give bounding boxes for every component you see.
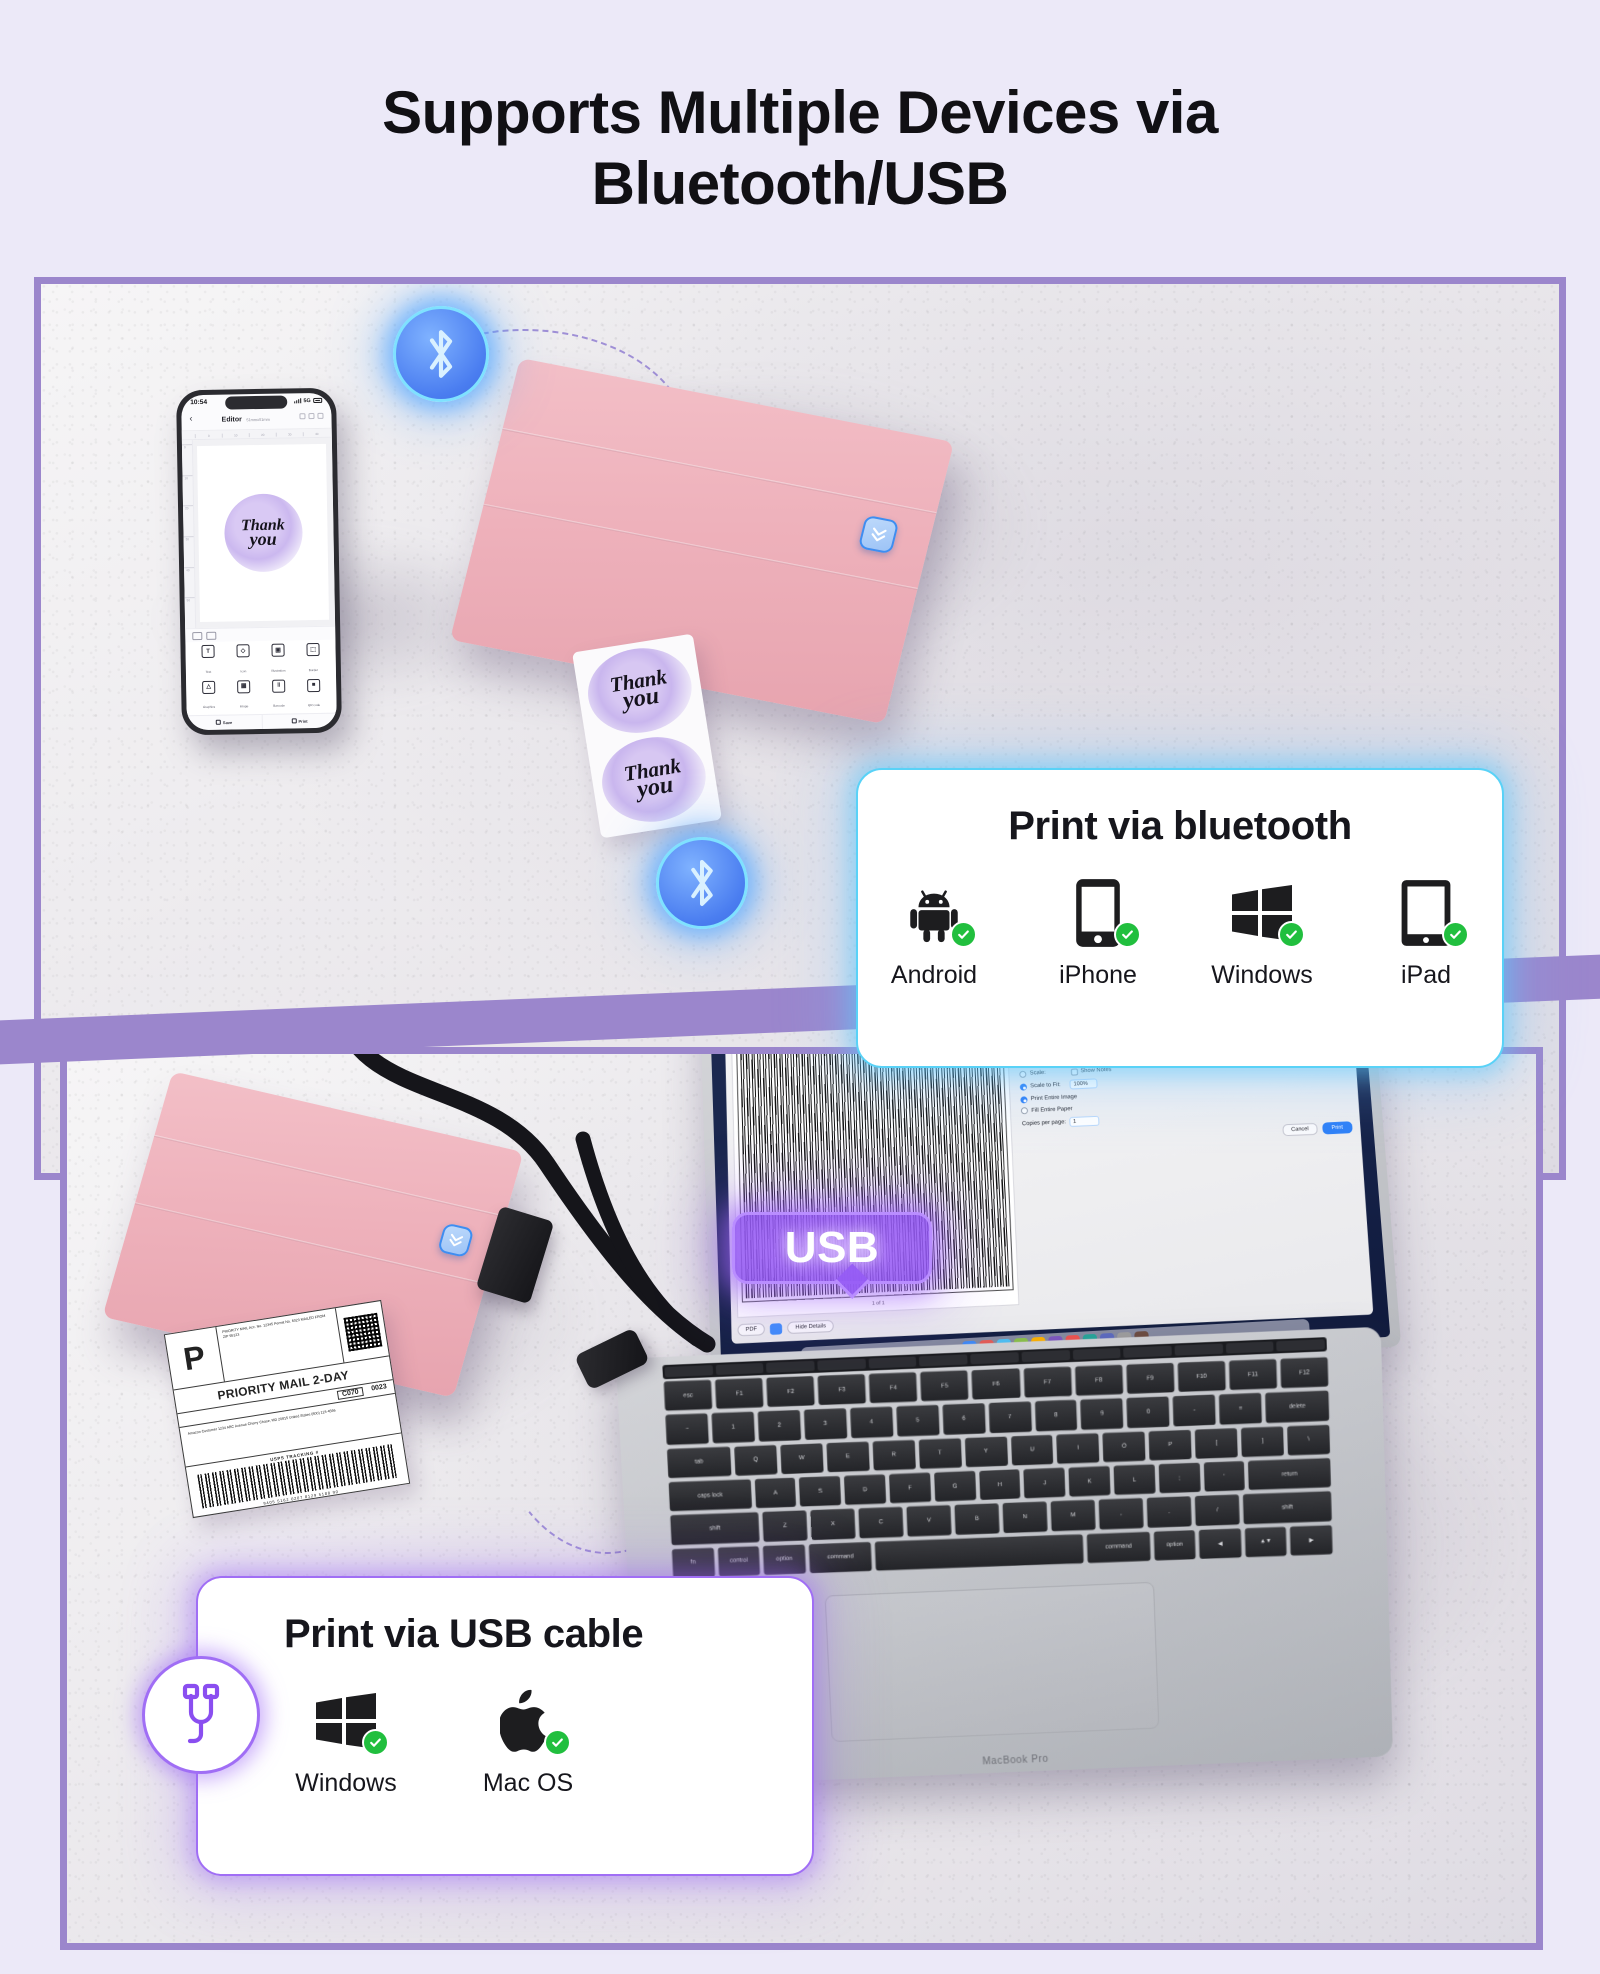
device-label: Mac OS bbox=[476, 1769, 580, 1798]
device-label: iPad bbox=[1374, 961, 1478, 990]
print-button[interactable]: Print bbox=[1322, 1121, 1352, 1134]
key[interactable]: F7 bbox=[1023, 1367, 1071, 1398]
tool-label: Icon bbox=[240, 669, 246, 673]
more-icon[interactable] bbox=[317, 413, 324, 420]
signal-icon bbox=[294, 398, 301, 403]
key[interactable]: ◀ bbox=[1199, 1528, 1241, 1559]
key[interactable]: F6 bbox=[972, 1368, 1020, 1399]
double-chevron-down-icon bbox=[866, 523, 890, 546]
scale-percent-input[interactable]: 100% bbox=[1070, 1078, 1098, 1089]
ruler-tick: 50 bbox=[185, 597, 196, 628]
laptop-trackpad[interactable] bbox=[825, 1582, 1160, 1742]
tool-label: Image bbox=[240, 704, 249, 708]
scale-label: Scale: bbox=[1030, 1070, 1046, 1077]
tool-icon[interactable]: ◇ Icon bbox=[226, 644, 260, 677]
phone-notch bbox=[225, 395, 287, 409]
key[interactable]: ] bbox=[1241, 1426, 1284, 1457]
checkbox-icon[interactable] bbox=[1071, 1068, 1078, 1075]
check-icon bbox=[1120, 927, 1135, 942]
check-icon bbox=[368, 1735, 383, 1750]
headline-line-2: Bluetooth/USB bbox=[0, 149, 1600, 220]
tool-label: Graphics bbox=[203, 705, 215, 709]
ruler-tick: 10 bbox=[182, 475, 193, 506]
tool-barcode[interactable]: ‖ Barcode bbox=[262, 679, 296, 712]
ipad-icon-wrap bbox=[1374, 875, 1478, 951]
battery-icon bbox=[313, 398, 322, 403]
iphone-icon-wrap bbox=[1046, 875, 1150, 951]
key[interactable]: O bbox=[1103, 1431, 1146, 1462]
print-label: Print bbox=[298, 718, 307, 723]
device-macos: Mac OS bbox=[476, 1683, 580, 1798]
design-canvas[interactable]: Thank you bbox=[197, 444, 329, 622]
tool-image[interactable]: ▦ Image bbox=[227, 679, 261, 712]
key[interactable]: command bbox=[1087, 1531, 1150, 1563]
text-tool-icon: T bbox=[201, 645, 214, 658]
save-button[interactable]: Save bbox=[187, 715, 263, 730]
editor-tool-grid[interactable]: T Text ◇ Icon ▣ Illustration ⬚ bbox=[185, 640, 336, 716]
back-chevron-icon[interactable]: ‹ bbox=[189, 414, 192, 423]
copies-per-page-label: Copies per page: bbox=[1022, 1119, 1066, 1127]
usb-card-title: Print via USB cable bbox=[198, 1578, 812, 1657]
key[interactable]: ; bbox=[1158, 1463, 1200, 1494]
ruler-tick: 30 bbox=[276, 432, 303, 436]
key[interactable]: option bbox=[1153, 1530, 1195, 1561]
phone-action-bar[interactable]: Save Print bbox=[187, 713, 337, 731]
thank-you-sticker: Thank you bbox=[582, 641, 698, 740]
supported-check-badge bbox=[1278, 921, 1305, 948]
key[interactable]: F9 bbox=[1126, 1363, 1174, 1394]
redo-icon[interactable] bbox=[206, 631, 216, 639]
key[interactable]: F10 bbox=[1177, 1361, 1225, 1392]
key[interactable]: 0 bbox=[1127, 1397, 1170, 1428]
key[interactable]: [ bbox=[1195, 1428, 1238, 1459]
ruler-tick: 30 bbox=[184, 536, 195, 567]
key[interactable]: 7 bbox=[988, 1402, 1031, 1433]
editor-canvas-area: 0 10 20 30 40 50 Thank you bbox=[182, 438, 335, 629]
sticker-line-2: you bbox=[636, 774, 675, 801]
key[interactable]: F12 bbox=[1280, 1357, 1328, 1388]
qrcode-tool-icon: ■ bbox=[307, 678, 320, 691]
key[interactable]: \ bbox=[1287, 1424, 1330, 1455]
save-label: Save bbox=[223, 719, 232, 724]
check-icon bbox=[956, 927, 971, 942]
check-icon bbox=[1284, 927, 1299, 942]
device-windows: Windows bbox=[1210, 875, 1314, 990]
key[interactable]: K bbox=[1069, 1466, 1111, 1497]
bluetooth-badge-top bbox=[393, 306, 489, 402]
supported-check-badge bbox=[544, 1729, 571, 1756]
tool-qrcode[interactable]: ■ QR code bbox=[297, 678, 331, 711]
radio-icon[interactable] bbox=[1021, 1096, 1028, 1103]
usb-cable-icon bbox=[171, 1682, 231, 1748]
supported-check-badge bbox=[1114, 921, 1141, 948]
show-notes-label: Show Notes bbox=[1081, 1067, 1112, 1074]
key[interactable]: 6 bbox=[942, 1403, 985, 1434]
layers-icon[interactable] bbox=[299, 413, 306, 420]
supported-check-badge bbox=[950, 921, 977, 948]
key[interactable]: ▲▼ bbox=[1245, 1526, 1287, 1557]
usb-callout-label: USB bbox=[785, 1223, 879, 1273]
usb-device-list: Windows Mac OS bbox=[198, 1657, 812, 1798]
key[interactable]: F8 bbox=[1075, 1365, 1123, 1396]
copies-per-page-input[interactable]: 1 bbox=[1069, 1115, 1099, 1126]
graphics-tool-icon: △ bbox=[202, 680, 215, 693]
key[interactable]: / bbox=[1195, 1495, 1240, 1526]
key[interactable]: N bbox=[1002, 1502, 1047, 1533]
device-label: Android bbox=[882, 961, 986, 990]
bluetooth-card-title: Print via bluetooth bbox=[858, 770, 1502, 849]
tool-label: QR code bbox=[308, 703, 320, 707]
smartphone-mockup: 10:54 5G ‹ Editor 51mmx51mm bbox=[176, 388, 342, 736]
device-windows-usb: Windows bbox=[294, 1683, 398, 1798]
bluetooth-device-list: Android iPhone bbox=[858, 849, 1502, 990]
key[interactable]: 9 bbox=[1081, 1398, 1124, 1429]
ruler-tick: 40 bbox=[184, 567, 195, 598]
scale-to-fit-label: Scale to Fit: bbox=[1030, 1082, 1061, 1089]
artwork-line-2: you bbox=[249, 531, 276, 549]
usb-cable bbox=[187, 1047, 947, 1574]
illustration-tool-icon: ▣ bbox=[271, 644, 284, 657]
supported-check-badge bbox=[362, 1729, 389, 1756]
print-settings-pane[interactable]: Settings Copies: 1 Pages: All bbox=[1011, 1047, 1373, 1330]
undo-icon[interactable] bbox=[192, 632, 202, 640]
windows-icon-wrap bbox=[1210, 875, 1314, 951]
fill-entire-paper-label: Fill Entire Paper bbox=[1031, 1106, 1072, 1114]
tool-graphics[interactable]: △ Graphics bbox=[192, 680, 226, 713]
ruler-tick: 0 bbox=[182, 444, 193, 475]
key[interactable]: return bbox=[1248, 1458, 1331, 1490]
device-iphone: iPhone bbox=[1046, 875, 1150, 990]
printer-feed-button[interactable] bbox=[858, 515, 900, 555]
ruler-tick: 10 bbox=[222, 433, 249, 437]
key[interactable]: J bbox=[1024, 1468, 1066, 1499]
key[interactable]: L bbox=[1114, 1464, 1156, 1495]
windows-icon-wrap bbox=[294, 1683, 398, 1759]
android-icon-wrap bbox=[882, 875, 986, 951]
apple-icon-wrap bbox=[476, 1683, 580, 1759]
bluetooth-badge-card bbox=[656, 837, 748, 929]
key[interactable]: M bbox=[1051, 1500, 1096, 1531]
ruler-tick: 40 bbox=[303, 432, 330, 436]
key[interactable]: P bbox=[1149, 1429, 1192, 1460]
key[interactable]: Y bbox=[964, 1436, 1007, 1467]
phone-screen: 10:54 5G ‹ Editor 51mmx51mm bbox=[181, 393, 337, 731]
supported-check-badge bbox=[1442, 921, 1469, 948]
tool-illustration[interactable]: ▣ Illustration bbox=[261, 643, 295, 676]
status-time: 10:54 bbox=[190, 399, 207, 406]
usb-cable-badge bbox=[142, 1656, 260, 1774]
sticker-line-2: you bbox=[622, 685, 661, 712]
tool-label: Text bbox=[206, 669, 212, 673]
tool-text[interactable]: T Text bbox=[191, 645, 225, 678]
app-title: Editor bbox=[222, 416, 242, 423]
tool-label: Illustration bbox=[271, 668, 285, 672]
page-title: Supports Multiple Devices via Bluetooth/… bbox=[0, 78, 1600, 220]
ruler-tick: 20 bbox=[183, 505, 194, 536]
thank-you-artwork: Thank you bbox=[223, 493, 302, 572]
tool-label: Barcode bbox=[273, 704, 285, 708]
icon-tool-icon: ◇ bbox=[236, 644, 249, 657]
radio-icon[interactable] bbox=[1020, 1083, 1027, 1090]
key[interactable]: ▶ bbox=[1290, 1525, 1332, 1556]
ruler-tick: 20 bbox=[249, 433, 276, 437]
key[interactable]: - bbox=[1173, 1395, 1216, 1426]
ruler-tick: 0 bbox=[195, 434, 222, 438]
barcode-tool-icon: ‖ bbox=[272, 679, 285, 692]
thank-you-sticker: Thank you bbox=[596, 730, 712, 829]
key[interactable]: I bbox=[1057, 1433, 1100, 1464]
headline-line-1: Supports Multiple Devices via bbox=[382, 79, 1218, 146]
print-via-bluetooth-card: Print via bluetooth bbox=[856, 768, 1504, 1068]
check-icon bbox=[550, 1735, 565, 1750]
key[interactable]: B bbox=[954, 1504, 999, 1535]
print-via-usb-card: Print via USB cable bbox=[196, 1576, 814, 1876]
vertical-ruler: 0 10 20 30 40 50 bbox=[182, 440, 196, 628]
key[interactable]: ' bbox=[1203, 1461, 1245, 1492]
print-button[interactable]: Print bbox=[262, 714, 337, 729]
radio-icon[interactable] bbox=[1020, 1070, 1027, 1077]
check-icon bbox=[1448, 927, 1463, 942]
key[interactable]: . bbox=[1147, 1497, 1192, 1528]
app-bar-titles: Editor 51mmx51mm bbox=[197, 407, 294, 427]
bluetooth-icon bbox=[680, 855, 724, 911]
device-ipad: iPad bbox=[1374, 875, 1478, 990]
device-android: Android bbox=[882, 875, 986, 990]
key[interactable]: H bbox=[979, 1469, 1021, 1500]
product-infographic: Supports Multiple Devices via Bluetooth/… bbox=[0, 0, 1600, 1974]
border-tool-icon: ⬚ bbox=[306, 643, 319, 656]
settings-icon[interactable] bbox=[308, 413, 315, 420]
key[interactable]: shift bbox=[1243, 1491, 1332, 1524]
print-entire-image-label: Print Entire Image bbox=[1031, 1094, 1077, 1102]
tool-label: Border bbox=[309, 667, 318, 671]
key[interactable]: = bbox=[1219, 1393, 1262, 1424]
device-label: Windows bbox=[294, 1769, 398, 1798]
tool-border[interactable]: ⬚ Border bbox=[296, 643, 330, 676]
cancel-button[interactable]: Cancel bbox=[1282, 1122, 1318, 1135]
image-tool-icon: ▦ bbox=[237, 680, 250, 693]
bluetooth-icon bbox=[418, 325, 464, 383]
key[interactable]: 8 bbox=[1034, 1400, 1077, 1431]
key[interactable]: , bbox=[1099, 1498, 1144, 1529]
status-indicators: 5G bbox=[294, 397, 322, 403]
app-subtitle: 51mmx51mm bbox=[246, 417, 270, 422]
save-icon bbox=[216, 719, 221, 724]
key[interactable]: delete bbox=[1265, 1391, 1329, 1423]
usb-callout-bubble: USB bbox=[732, 1212, 932, 1284]
radio-icon[interactable] bbox=[1021, 1107, 1028, 1114]
key[interactable]: F11 bbox=[1229, 1359, 1277, 1390]
key[interactable]: U bbox=[1011, 1435, 1054, 1466]
network-type: 5G bbox=[303, 398, 310, 404]
device-label: iPhone bbox=[1046, 961, 1150, 990]
print-icon bbox=[291, 718, 296, 723]
app-bar-actions[interactable] bbox=[299, 413, 324, 420]
device-label: Windows bbox=[1210, 961, 1314, 990]
